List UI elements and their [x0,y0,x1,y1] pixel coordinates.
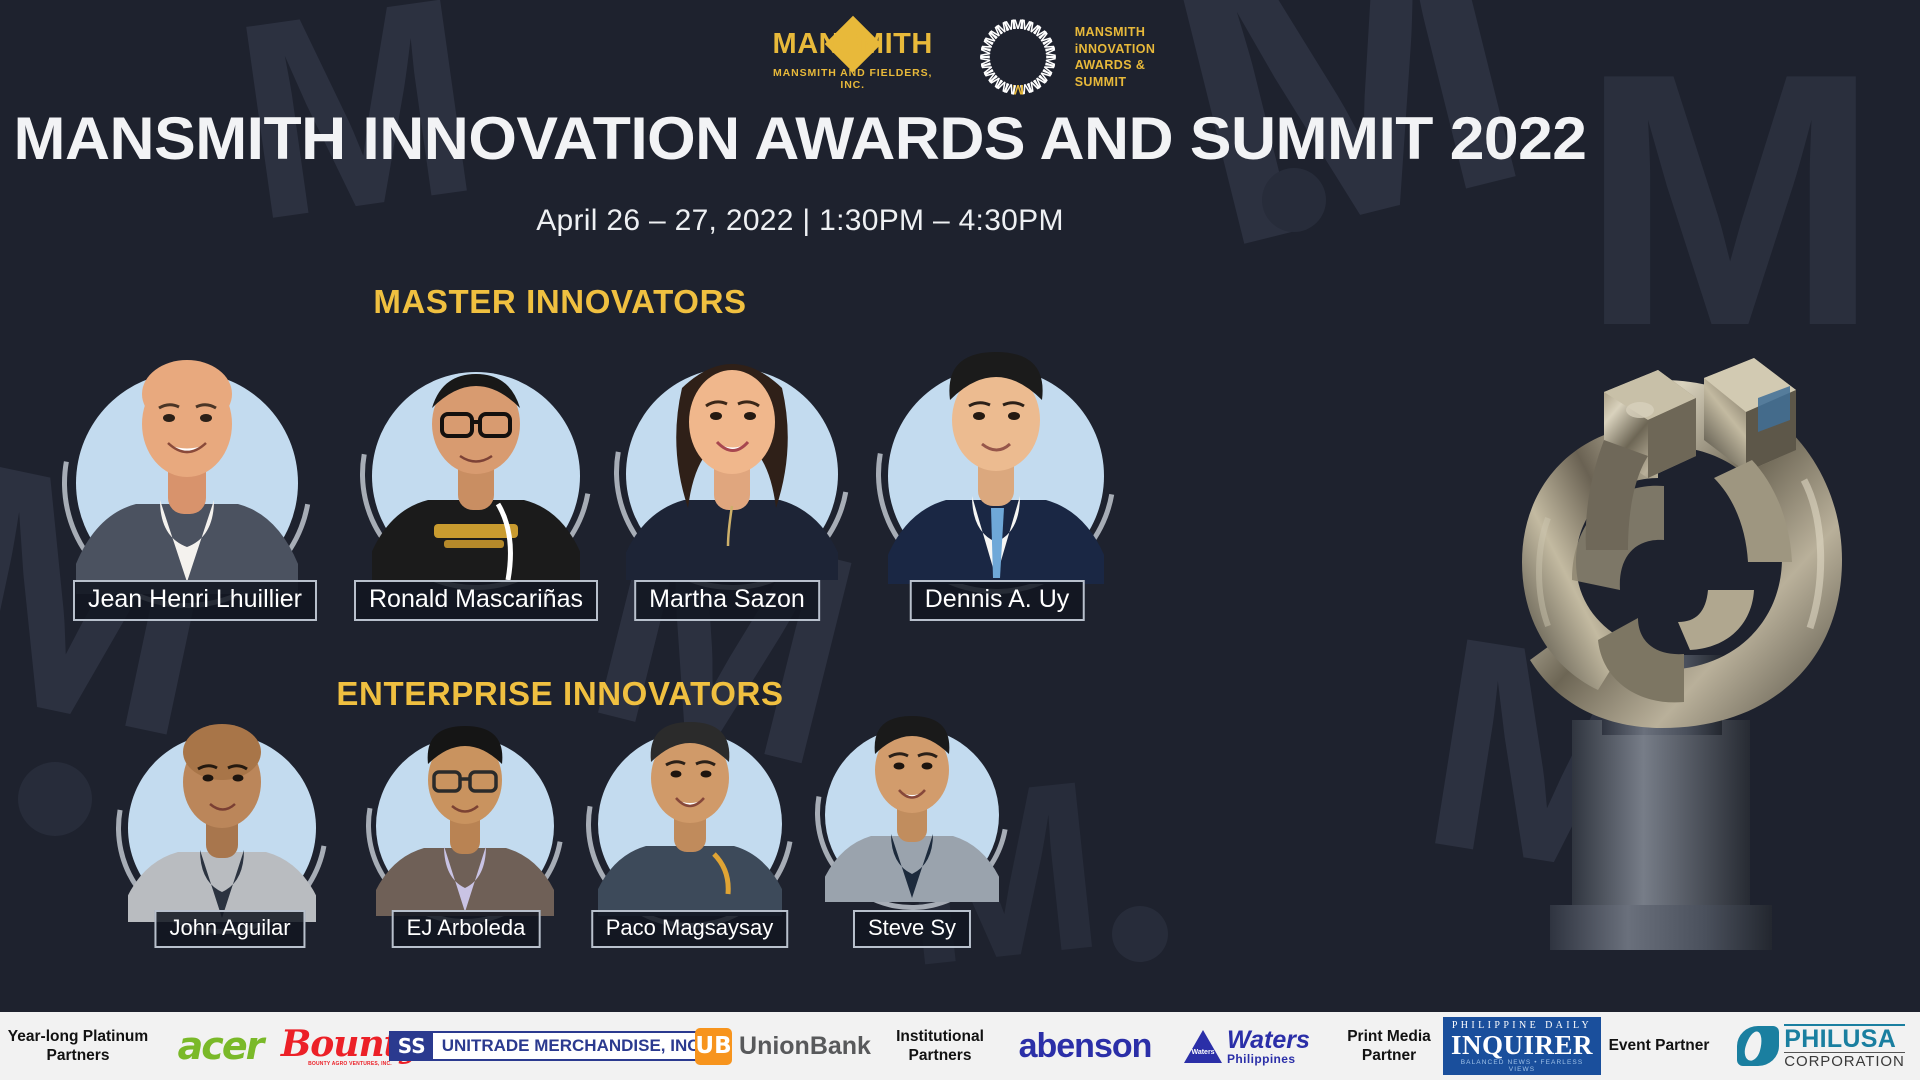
master-innovators-row: Jean Henri Lhuillier [40,340,1142,630]
person-name-label: EJ Arboleda [392,910,541,948]
unitrade-mark-icon: SS [391,1033,433,1059]
header-logo-bar: MANSMITH MANSMITH AND FIELDERS, INC. MMM… [0,14,1920,100]
unionbank-mark-icon: UB [695,1028,732,1065]
unitrade-wordmark: UNITRADE MERCHANDISE, INC. [433,1036,714,1056]
sponsor-label-line: Institutional [878,1027,1002,1046]
person-name-label: Steve Sy [853,910,971,948]
mansmith-wordmark-group: MANSMITH [765,24,941,64]
sponsor-logo-acer[interactable]: acer [156,1024,284,1068]
section-heading-master: MASTER INNOVATORS [0,283,1120,321]
sponsor-label-line: Year-long Platinum [0,1027,156,1046]
trophy-svg [1452,250,1872,950]
mias-text-line: AWARDS & [1075,57,1156,74]
mansmith-innovation-awards-logo: MMMMMMMMMMMMMMMMMMMMMMMMMM MANSMITH iNNO… [975,14,1156,100]
mansmith-fielders-logo: MANSMITH MANSMITH AND FIELDERS, INC. [765,24,941,91]
person-card[interactable]: John Aguilar [100,712,360,962]
sponsor-logo-philusa[interactable]: PHILUSA CORPORATION [1726,1024,1916,1069]
portrait-photo [76,332,298,594]
inquirer-tagline: BALANCED NEWS • FEARLESS VIEWS [1451,1059,1593,1073]
section-heading-enterprise: ENTERPRISE INNOVATORS [0,675,1120,713]
person-card[interactable]: Jean Henri Lhuillier [40,340,350,630]
portrait-photo [825,698,999,902]
unionbank-wordmark: UnionBank [739,1032,871,1061]
sponsor-logo-abenson[interactable]: abenson [1002,1027,1168,1066]
person-card[interactable]: Martha Sazon [602,340,852,630]
waters-wordmark: Waters [1227,1027,1310,1053]
m-ring-icon: MMMMMMMMMMMMMMMMMMMMMMMMMM [975,14,1061,100]
waters-mark-text: Waters [1190,1049,1216,1056]
mias-text-line: iNNOVATION [1075,41,1156,58]
portrait-photo [376,706,554,916]
acer-wordmark: acer [178,1024,263,1068]
watermark-dot-icon [18,762,92,836]
enterprise-innovators-row: John Aguilar EJ Arboleda [100,712,1017,962]
sponsor-logo-unionbank[interactable]: UB UnionBank [688,1028,878,1065]
mansmith-tagline: MANSMITH AND FIELDERS, INC. [765,67,941,91]
philusa-wordmark: PHILUSA [1784,1024,1904,1053]
mias-text-line: MANSMITH [1075,24,1156,41]
m-ring-svg: MMMMMMMMMMMMMMMMMMMMMMMMMM [975,14,1061,100]
sponsor-label-line: Partner [1326,1046,1452,1065]
person-name-label: Ronald Mascariñas [354,580,598,621]
sponsor-label-line: Partners [0,1046,156,1065]
sponsor-group-label-platinum: Year-long Platinum Partners [0,1027,156,1066]
portrait-photo [888,328,1104,584]
person-card[interactable]: EJ Arboleda [360,712,572,962]
abenson-wordmark: abenson [1019,1027,1152,1066]
portrait-photo [626,328,838,580]
sponsor-label-line: Event Partner [1592,1036,1726,1055]
person-card[interactable]: Paco Magsaysay [572,712,807,962]
sponsor-group-label-print-media: Print Media Partner [1326,1027,1452,1066]
waters-triangle-icon: Waters [1184,1030,1222,1063]
portrait-photo [598,702,782,916]
person-name-label: Paco Magsaysay [591,910,789,948]
portrait-photo [372,334,580,580]
portrait-photo [128,702,316,922]
mias-text-line: SUMMIT [1075,74,1156,91]
person-card[interactable]: Ronald Mascariñas [350,340,602,630]
person-name-label: John Aguilar [154,910,305,948]
person-name-label: Jean Henri Lhuillier [73,580,317,621]
sponsor-logo-unitrade[interactable]: SS UNITRADE MERCHANDISE, INC. [416,1031,688,1061]
trophy-sculpture [1452,250,1872,955]
sponsor-group-label-event-partner: Event Partner [1592,1036,1726,1055]
person-name-label: Martha Sazon [634,580,820,621]
mansmith-wordmark-text: MANSMITH [773,28,933,60]
event-date-time: April 26 – 27, 2022 | 1:30PM – 4:30PM [0,204,1600,238]
mias-logo-text: MANSMITH iNNOVATION AWARDS & SUMMIT [1075,24,1156,90]
philusa-droplet-icon [1737,1026,1779,1066]
person-name-label: Dennis A. Uy [910,580,1085,621]
waters-subtext: Philippines [1227,1053,1310,1066]
inquirer-wordmark: INQUIRER [1451,1031,1593,1059]
sponsor-group-label-institutional: Institutional Partners [878,1027,1002,1066]
watermark-dot-icon [1112,906,1168,962]
sponsor-logo-inquirer[interactable]: PHILIPPINE DAILY INQUIRER BALANCED NEWS … [1452,1017,1592,1075]
sponsor-label-line: Partners [878,1046,1002,1065]
sponsor-bar: Year-long Platinum Partners acer Bounty … [0,1012,1920,1080]
person-card[interactable]: Steve Sy [807,712,1017,962]
person-card[interactable]: Dennis A. Uy [852,340,1142,630]
philusa-subtext: CORPORATION [1784,1053,1904,1069]
page-title: MANSMITH INNOVATION AWARDS AND SUMMIT 20… [0,104,1632,173]
sponsor-logo-waters[interactable]: Waters Waters Philippines [1168,1027,1326,1066]
sponsor-label-line: Print Media [1326,1027,1452,1046]
